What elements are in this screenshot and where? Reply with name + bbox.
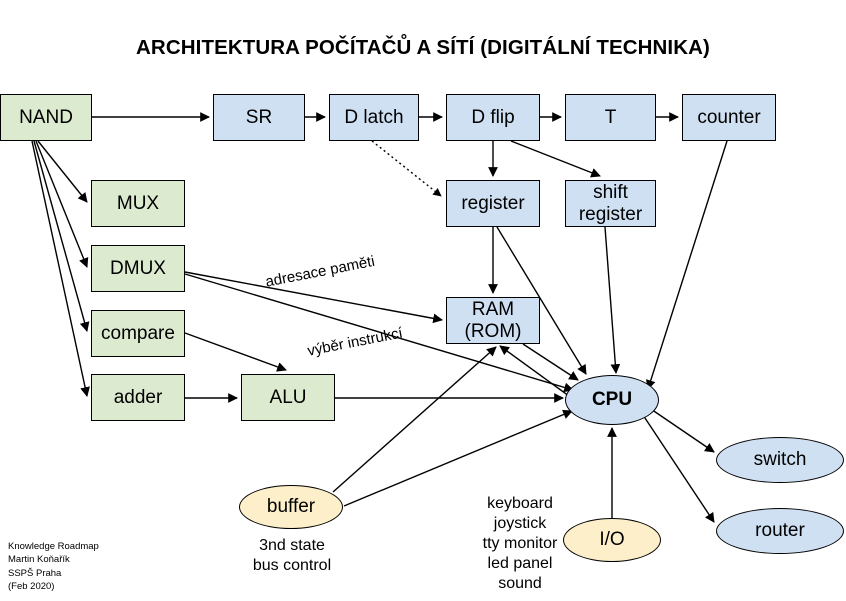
node-buffer[interactable]: buffer (239, 485, 343, 529)
node-sr[interactable]: SR (213, 94, 305, 141)
node-switch[interactable]: switch (716, 437, 844, 483)
page-title: ARCHITEKTURA POČÍTAČŮ A SÍTÍ (DIGITÁLNÍ … (0, 36, 846, 60)
node-counter[interactable]: counter (682, 94, 776, 141)
node-dmux[interactable]: DMUX (91, 245, 185, 292)
edge-layer (0, 0, 846, 601)
node-compare[interactable]: compare (91, 310, 185, 357)
node-mux[interactable]: MUX (91, 180, 185, 227)
node-alu[interactable]: ALU (241, 374, 335, 421)
edge-nand-dmux (36, 141, 87, 267)
node-router[interactable]: router (716, 508, 844, 554)
edge-buffer-cpu (344, 411, 572, 506)
edge-ram-cpu (523, 344, 578, 380)
edge-nand-adder (32, 141, 87, 396)
edge-compare-alu (185, 333, 286, 370)
edge-cpu-router (641, 412, 714, 522)
diagram-canvas: ARCHITEKTURA POČÍTAČŮ A SÍTÍ (DIGITÁLNÍ … (0, 0, 846, 601)
edge-dlatch-register (372, 141, 441, 196)
annotation-io-note: keyboard joystick tty monitor led panel … (465, 494, 575, 594)
edge-buffer-ram (333, 347, 496, 492)
node-io[interactable]: I/O (563, 518, 661, 562)
node-t[interactable]: T (565, 94, 656, 141)
edge-shiftregister-cpu (605, 227, 616, 373)
edge-dflip-shiftregister (511, 141, 600, 176)
credit-block: Knowledge Roadmap Martin Koňařík SSPŠ Pr… (8, 540, 99, 594)
annotation-buffer-note: 3nd state bus control (232, 536, 352, 576)
edge-nand-mux (38, 141, 87, 202)
edge-cpu-switch (645, 405, 714, 452)
node-shift-register[interactable]: shift register (565, 180, 656, 227)
node-d-flip[interactable]: D flip (446, 94, 540, 141)
node-adder[interactable]: adder (91, 374, 185, 421)
edge-counter-cpu (648, 141, 727, 389)
node-d-latch[interactable]: D latch (329, 94, 419, 141)
node-ram-rom[interactable]: RAM (ROM) (446, 297, 540, 344)
node-nand[interactable]: NAND (0, 94, 92, 141)
node-register[interactable]: register (446, 180, 540, 227)
node-cpu[interactable]: CPU (565, 375, 659, 425)
